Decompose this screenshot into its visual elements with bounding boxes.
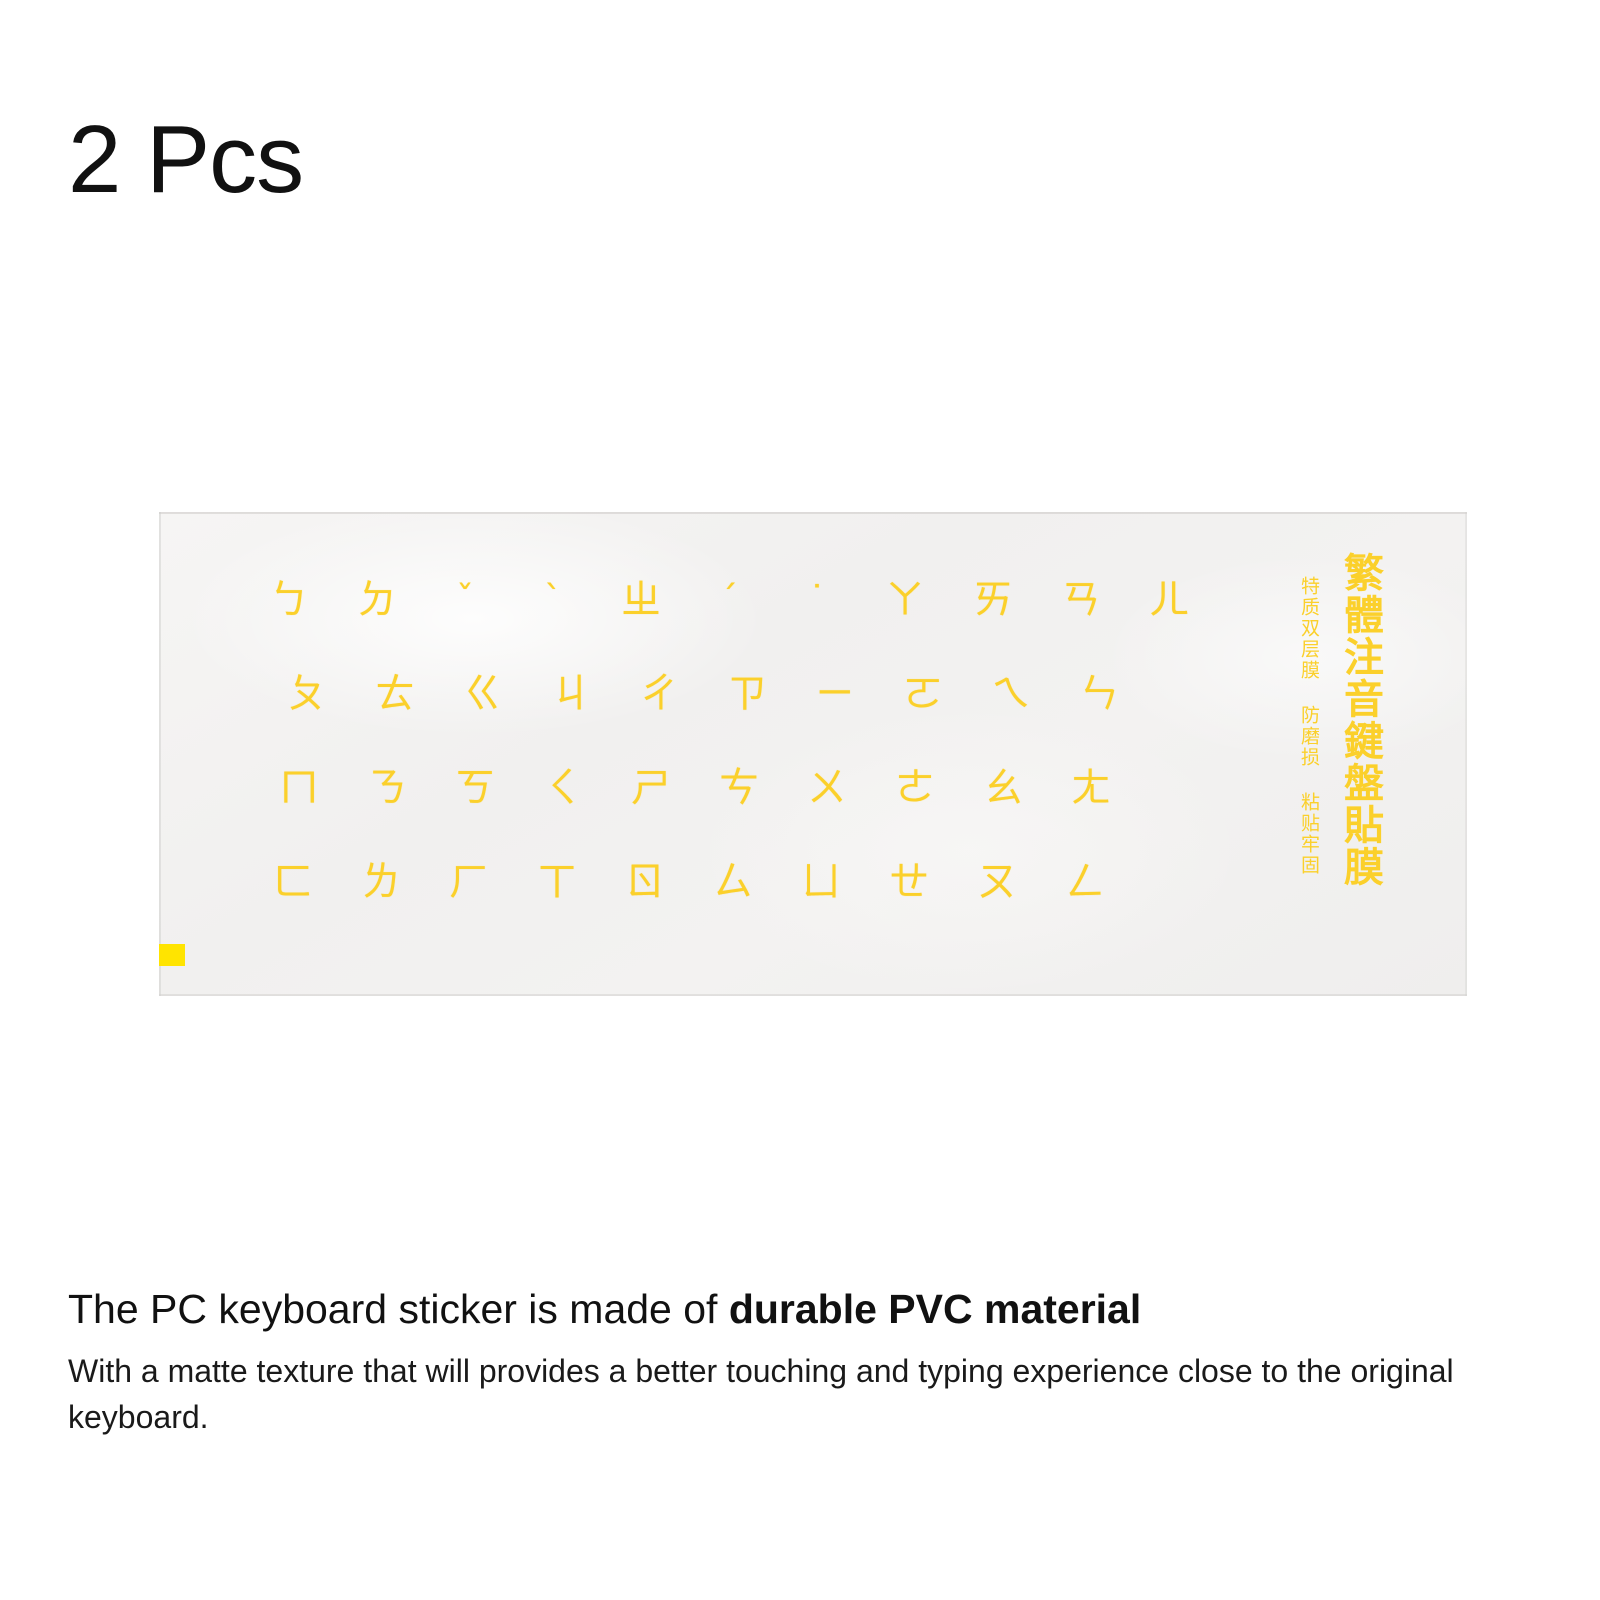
key-glyph: ㄠ <box>959 762 1047 814</box>
sheet-edge-bottom <box>159 994 1467 996</box>
key-glyph: ㄚ <box>861 574 949 626</box>
key-glyph: ㄔ <box>615 668 703 720</box>
key-row: ㄇ ㄋ ㄎ ㄑ ㄕ ㄘ ㄨ ㄜ ㄠ ㄤ <box>255 762 1305 814</box>
brand-subtitle-vertical: 特质双层膜 防磨损 粘贴牢固 <box>1296 576 1323 876</box>
key-glyph: ㄥ <box>1041 856 1129 908</box>
key-glyph: ㄐ <box>527 668 615 720</box>
key-glyph: ˇ <box>421 574 509 626</box>
key-glyph: ㄌ <box>337 856 425 908</box>
brand-text-block: 特质双层膜 防磨损 粘贴牢固 繁體注音鍵盤貼膜 <box>1296 552 1389 952</box>
quantity-heading: 2 Pcs <box>68 112 303 208</box>
key-glyph: ㄣ <box>1055 668 1143 720</box>
description-headline-plain: The PC keyboard sticker is made of <box>68 1286 729 1332</box>
key-glyph: ㄎ <box>431 762 519 814</box>
key-glyph: ㄤ <box>1047 762 1135 814</box>
key-glyph: ㄜ <box>871 762 959 814</box>
description-headline-strong: durable PVC material <box>729 1286 1141 1332</box>
key-glyph: ˊ <box>685 574 773 626</box>
key-glyph: ㄅ <box>245 574 333 626</box>
key-glyph: ㄓ <box>597 574 685 626</box>
key-glyph: ˙ <box>773 574 861 626</box>
key-glyph: ㄛ <box>879 668 967 720</box>
sheet-edge-top <box>159 512 1467 514</box>
sheet-edge-left <box>159 512 161 996</box>
key-glyph: ㄟ <box>967 668 1055 720</box>
key-glyph: ㄆ <box>263 668 351 720</box>
key-glyph: ㄙ <box>689 856 777 908</box>
key-glyph: ㄈ <box>249 856 337 908</box>
key-row: ㄅ ㄉ ˇ ˋ ㄓ ˊ ˙ ㄚ ㄞ ㄢ ㄦ <box>245 574 1305 626</box>
key-glyph: ㄘ <box>695 762 783 814</box>
sheet-edge-right <box>1465 512 1467 996</box>
keyboard-sticker-sheet: ㄅ ㄉ ˇ ˋ ㄓ ˊ ˙ ㄚ ㄞ ㄢ ㄦ ㄆ ㄊ ㄍ ㄐ ㄔ ㄗ ㄧ ㄛ ㄟ … <box>159 512 1467 996</box>
key-glyph: ㄍ <box>439 668 527 720</box>
key-glyph: ㄗ <box>703 668 791 720</box>
description-headline: The PC keyboard sticker is made of durab… <box>68 1283 1468 1335</box>
key-glyph: ㄋ <box>343 762 431 814</box>
key-row: ㄆ ㄊ ㄍ ㄐ ㄔ ㄗ ㄧ ㄛ ㄟ ㄣ <box>263 668 1305 720</box>
key-glyph: ㄩ <box>777 856 865 908</box>
key-glyph: ㄊ <box>351 668 439 720</box>
key-glyph: ㄧ <box>791 668 879 720</box>
key-glyph: ㄦ <box>1125 574 1213 626</box>
key-glyph: ㄖ <box>601 856 689 908</box>
key-glyph: ㄇ <box>255 762 343 814</box>
key-glyph: ˋ <box>509 574 597 626</box>
key-glyph: ㄕ <box>607 762 695 814</box>
description-body: With a matte texture that will provides … <box>68 1349 1458 1440</box>
key-glyph: ㄒ <box>513 856 601 908</box>
key-glyph: ㄡ <box>953 856 1041 908</box>
key-glyph: ㄝ <box>865 856 953 908</box>
key-glyph: ㄨ <box>783 762 871 814</box>
description-block: The PC keyboard sticker is made of durab… <box>68 1283 1468 1440</box>
key-glyph: ㄞ <box>949 574 1037 626</box>
key-row: ㄈ ㄌ ㄏ ㄒ ㄖ ㄙ ㄩ ㄝ ㄡ ㄥ <box>249 856 1305 908</box>
key-glyph: ㄑ <box>519 762 607 814</box>
key-glyph: ㄢ <box>1037 574 1125 626</box>
brand-title-vertical: 繁體注音鍵盤貼膜 <box>1331 552 1389 888</box>
key-glyph: ㄏ <box>425 856 513 908</box>
key-glyph: ㄉ <box>333 574 421 626</box>
bopomofo-key-grid: ㄅ ㄉ ˇ ˋ ㄓ ˊ ˙ ㄚ ㄞ ㄢ ㄦ ㄆ ㄊ ㄍ ㄐ ㄔ ㄗ ㄧ ㄛ ㄟ … <box>245 574 1305 908</box>
yellow-corner-tab <box>159 944 185 966</box>
